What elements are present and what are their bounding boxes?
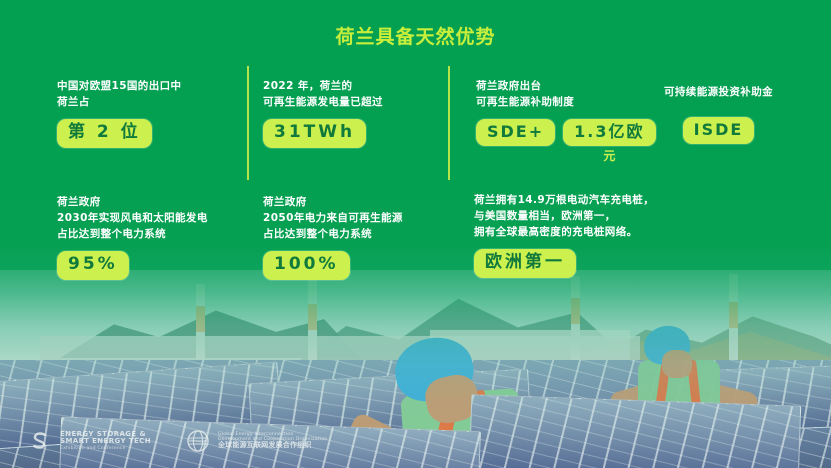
stat-badge: ISDE bbox=[683, 117, 755, 144]
stat-badge: 1.3亿欧 bbox=[563, 119, 655, 146]
stat-line: 拥有全球最高密度的充电桩网络。 bbox=[474, 224, 654, 240]
stat-line: 可持续能源投资补助金 bbox=[664, 84, 773, 100]
logo-line-3: 全球能源互联网发展合作组织 bbox=[218, 442, 327, 450]
stat-description: 2022 年，荷兰的 可再生能源发电量已超过 bbox=[263, 78, 383, 110]
stat-line: 占比达到整个电力系统 bbox=[263, 226, 403, 242]
column-divider bbox=[247, 66, 249, 180]
stat-line: 荷兰拥有14.9万根电动汽车充电桩， bbox=[474, 192, 654, 208]
badge-group: 100% bbox=[263, 251, 403, 280]
badge-group: 95% bbox=[57, 251, 208, 280]
stat-badge: 欧洲第一 bbox=[474, 249, 576, 278]
stat-line: 可再生能源发电量已超过 bbox=[263, 94, 383, 110]
stat-description: 可持续能源投资补助金 bbox=[664, 84, 773, 100]
stat-cell-target-2050: 荷兰政府 2050年电力来自可再生能源 占比达到整个电力系统 100% bbox=[263, 194, 403, 280]
stat-description: 中国对欧盟15国的出口中 荷兰占 bbox=[57, 78, 181, 110]
stat-line: 2050年电力来自可再生能源 bbox=[263, 210, 403, 226]
logo-esie: ENERGY STORAGE & SMART ENERGY TECH Exhib… bbox=[27, 428, 151, 454]
stat-cell-subsidy-scheme: 荷兰政府出台 可再生能源补助制度 SDE+ 1.3亿欧 元 bbox=[476, 78, 656, 164]
stat-cell-isde-grant: 可持续能源投资补助金 ISDE bbox=[664, 84, 773, 144]
stat-line: 占比达到整个电力系统 bbox=[57, 226, 208, 242]
stat-line: 2022 年，荷兰的 bbox=[263, 78, 383, 94]
globe-icon bbox=[185, 428, 211, 454]
stat-line: 荷兰政府出台 bbox=[476, 78, 656, 94]
stat-badge: 31TWh bbox=[263, 119, 366, 148]
stat-description: 荷兰政府 2030年实现风电和太阳能发电 占比达到整个电力系统 bbox=[57, 194, 208, 242]
stat-cell-ev-chargers: 荷兰拥有14.9万根电动汽车充电桩， 与美国数量相当，欧洲第一， 拥有全球最高密… bbox=[474, 192, 654, 278]
logo-line-3: Exhibition and Conference bbox=[60, 446, 151, 451]
stat-badge: SDE+ bbox=[476, 119, 555, 146]
logo-geidco: Global Energy Interconnection Developmen… bbox=[185, 428, 327, 454]
stat-line: 荷兰政府 bbox=[263, 194, 403, 210]
stat-line: 荷兰政府 bbox=[57, 194, 208, 210]
stat-description: 荷兰政府出台 可再生能源补助制度 bbox=[476, 78, 656, 110]
stat-badge: 100% bbox=[263, 251, 350, 280]
badge-group: SDE+ 1.3亿欧 元 bbox=[476, 119, 656, 164]
column-divider bbox=[448, 66, 450, 180]
stat-badge: 第 2 位 bbox=[57, 119, 152, 148]
badge-group: 欧洲第一 bbox=[474, 249, 654, 278]
slide-root: 荷兰具备天然优势 中国对欧盟15国的出口中 荷兰占 第 2 位 2022 年，荷… bbox=[0, 0, 831, 468]
badge-group: 31TWh bbox=[263, 119, 383, 148]
badge-unit: 元 bbox=[603, 147, 615, 164]
logo-bar: ENERGY STORAGE & SMART ENERGY TECH Exhib… bbox=[27, 428, 327, 454]
s-monogram-icon bbox=[27, 428, 53, 454]
stat-line: 2030年实现风电和太阳能发电 bbox=[57, 210, 208, 226]
stat-description: 荷兰政府 2050年电力来自可再生能源 占比达到整个电力系统 bbox=[263, 194, 403, 242]
stat-line: 中国对欧盟15国的出口中 bbox=[57, 78, 181, 94]
stat-description: 荷兰拥有14.9万根电动汽车充电桩， 与美国数量相当，欧洲第一， 拥有全球最高密… bbox=[474, 192, 654, 240]
badge-group: ISDE bbox=[664, 117, 773, 144]
stat-cell-target-2030: 荷兰政府 2030年实现风电和太阳能发电 占比达到整个电力系统 95% bbox=[57, 194, 208, 280]
stat-line: 与美国数量相当，欧洲第一， bbox=[474, 208, 654, 224]
badge-group: 第 2 位 bbox=[57, 119, 181, 148]
stat-badge: 95% bbox=[57, 251, 129, 280]
stat-line: 荷兰占 bbox=[57, 94, 181, 110]
page-title: 荷兰具备天然优势 bbox=[0, 22, 831, 49]
stat-cell-export-rank: 中国对欧盟15国的出口中 荷兰占 第 2 位 bbox=[57, 78, 181, 148]
stat-line: 可再生能源补助制度 bbox=[476, 94, 656, 110]
content-layer: 荷兰具备天然优势 中国对欧盟15国的出口中 荷兰占 第 2 位 2022 年，荷… bbox=[0, 0, 831, 468]
stat-cell-renewable-generation: 2022 年，荷兰的 可再生能源发电量已超过 31TWh bbox=[263, 78, 383, 148]
